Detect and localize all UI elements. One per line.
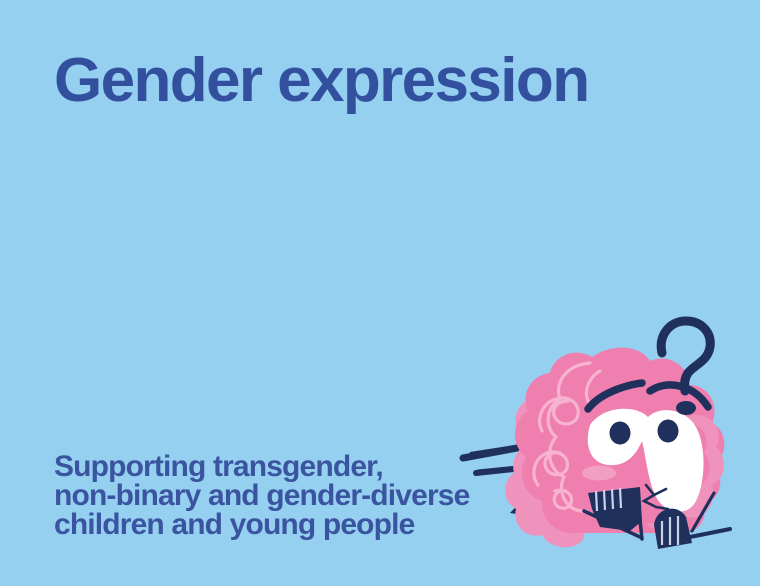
thinking-brain-illustration [440,305,760,586]
left-pupil-icon [610,422,631,445]
right-pupil-icon [658,420,679,443]
page-title: Gender expression [54,50,588,112]
subtitle-line-2: non-binary and gender-diverse [54,481,469,510]
subtitle-line-3: children and young people [54,510,469,539]
subtitle-line-1: Supporting transgender, [54,452,469,481]
slide-subtitle: Supporting transgender, non-binary and g… [54,452,469,539]
cheek-blush-icon [582,466,616,481]
slide-canvas: Gender expression Supporting transgender… [0,0,760,586]
